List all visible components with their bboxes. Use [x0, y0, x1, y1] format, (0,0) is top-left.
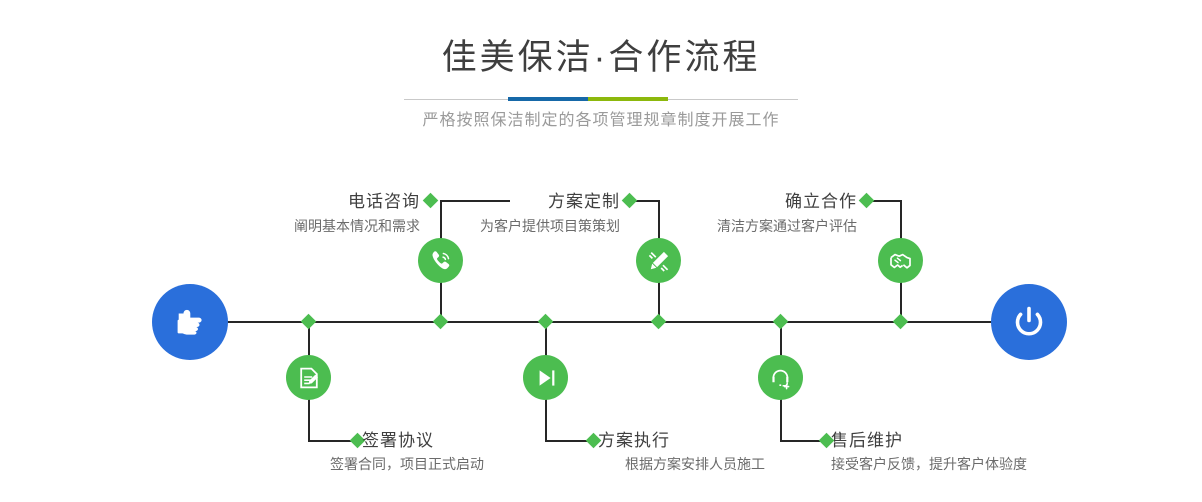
step-icon-badge[interactable]: [758, 355, 803, 400]
axis-diamond-marker: [651, 314, 667, 330]
headset-support-icon: [768, 365, 794, 391]
step-title: 售后维护: [831, 432, 903, 449]
page-title: 佳美保洁·合作流程: [0, 0, 1202, 75]
step-icon-badge[interactable]: [523, 355, 568, 400]
pencil-ruler-icon: [646, 248, 672, 274]
axis-diamond-marker: [773, 314, 789, 330]
axis-diamond-marker: [893, 314, 909, 330]
page-subtitle: 严格按照保洁制定的各项管理规章制度开展工作: [0, 113, 1202, 129]
label-diamond-marker: [859, 193, 875, 209]
step-title: 方案定制: [340, 193, 620, 210]
axis-diamond-marker: [301, 314, 317, 330]
step-icon-badge[interactable]: [636, 238, 681, 283]
pointing-hand-icon: [170, 302, 210, 342]
step-description: 签署合同，项目正式启动: [330, 457, 484, 471]
flow-end-node[interactable]: [991, 284, 1067, 360]
handshake-icon: [888, 248, 914, 274]
step-title: 确立合作: [580, 193, 857, 210]
play-execute-icon: [533, 365, 559, 391]
step-description: 接受客户反馈，提升客户体验度: [831, 457, 1027, 471]
step-title: 签署协议: [362, 432, 434, 449]
flow-start-node[interactable]: [152, 284, 228, 360]
step-icon-badge[interactable]: [418, 238, 463, 283]
cooperation-flow-infographic: 佳美保洁·合作流程 严格按照保洁制定的各项管理规章制度开展工作: [0, 0, 1202, 502]
step-description: 为客户提供项目策策划: [340, 219, 620, 233]
divider-accent-green: [588, 97, 668, 101]
axis-diamond-marker: [538, 314, 554, 330]
title-divider: [404, 97, 798, 101]
step-description: 清洁方案通过客户评估: [580, 219, 857, 233]
phone-call-icon: [428, 248, 454, 274]
step-title: 方案执行: [598, 432, 670, 449]
header: 佳美保洁·合作流程 严格按照保洁制定的各项管理规章制度开展工作: [0, 0, 1202, 129]
step-icon-badge[interactable]: [878, 238, 923, 283]
axis-diamond-marker: [433, 314, 449, 330]
step-description: 根据方案安排人员施工: [625, 457, 765, 471]
divider-accent-blue: [508, 97, 588, 101]
document-edit-icon: [296, 365, 322, 391]
power-icon: [1007, 300, 1051, 344]
step-icon-badge[interactable]: [286, 355, 331, 400]
